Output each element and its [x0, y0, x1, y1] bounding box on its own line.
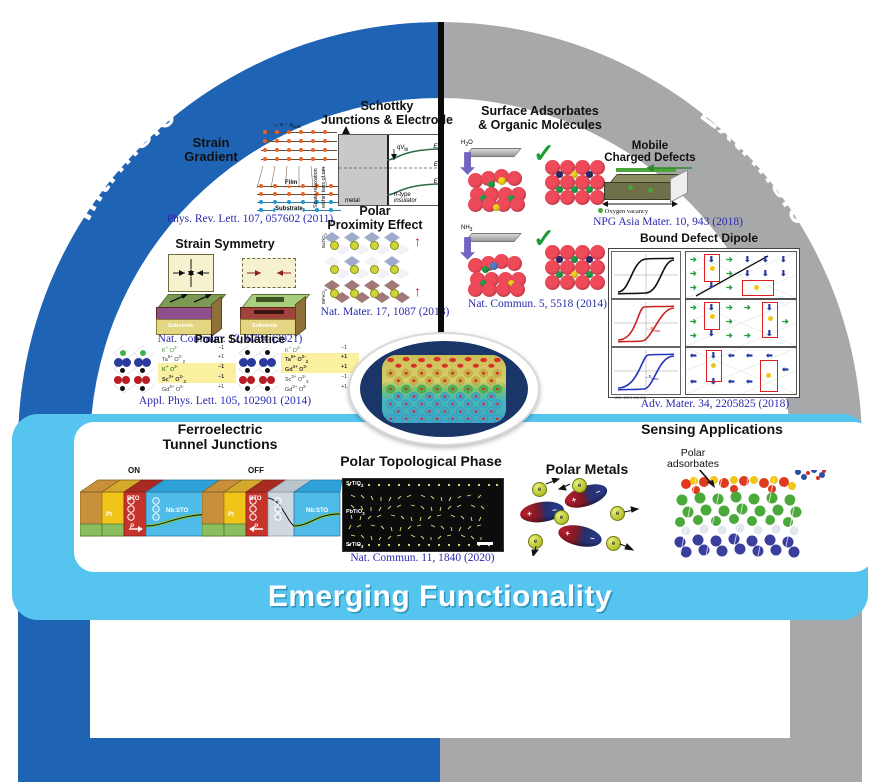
defect-lattice-blue: ⬅ ⬅ ⬇ ⬇ ⬅ ⬅ ⬅ ⬅ ⬅ ⬅	[685, 347, 797, 395]
oxygen-vacancy-dot	[598, 208, 603, 213]
ftj-polarization-off: P	[254, 524, 258, 530]
mobile-defects-sketch	[600, 168, 704, 210]
legend-oxygen-vacancy: Oxygen vacancy	[598, 208, 648, 215]
heading-bound-defect-dipole: Bound Defect Dipole	[604, 232, 794, 245]
strain-symmetry-square	[168, 254, 214, 292]
hysteresis-loop-red: ←Ebias	[611, 299, 681, 347]
schottky-band-diagram: qVbi EC EF EV metal n-typeinsulator	[338, 134, 444, 206]
label-h2o: H2O	[461, 140, 473, 148]
ftj-device-on: --- +++ Pt BTO Nb:STO P	[80, 474, 220, 552]
label-substrate: Substrate	[275, 206, 303, 212]
ftj-layer-nbsto-on: Nb:STO	[166, 508, 188, 514]
ftj-layer-bto-on: BTO	[127, 496, 140, 502]
label-film: Film	[285, 180, 297, 186]
crystal-surface-left-bottom	[468, 248, 530, 296]
citation-mobile-defects: NPG Asia Mater. 10, 943 (2018)	[573, 216, 763, 228]
label-insulator: n-typeinsulator	[394, 192, 417, 204]
heading-strain-gradient: StrainGradient	[170, 136, 252, 164]
strain-symmetry-slab-left: Substrate	[156, 294, 226, 336]
citation-surface-adsorbates: Nat. Commun. 5, 5518 (2014)	[450, 298, 625, 310]
sublabel-polar-adsorbates: Polaradsorbates	[648, 448, 738, 471]
hysteresis-loop-black	[611, 251, 681, 299]
heading-polar-sublattice: Polar Sublattice	[150, 333, 330, 346]
strain-relaxation-note2: within tens of nm	[321, 167, 327, 208]
heading-polar-proximity: PolarProximity Effect	[310, 205, 440, 232]
center-oval-ring	[360, 341, 528, 437]
heading-strain-symmetry: Strain Symmetry	[140, 238, 310, 252]
crystal-surface-left-top	[468, 163, 530, 211]
heading-topological-phase: Polar Topological Phase	[316, 454, 526, 469]
label-metal: metal	[345, 198, 360, 204]
heading-mobile-defects: MobileCharged Defects	[590, 140, 710, 165]
label-nh3: NH3	[461, 225, 472, 233]
legend-text: Oxygen vacancy	[605, 208, 649, 215]
strain-gradient-sketch: ↔ a ~ abulk	[255, 120, 345, 215]
polar-proximity-lattice: ↑ ↑ BaTiO3 BiFeO3	[322, 232, 432, 304]
carrier-arrows	[520, 478, 650, 556]
ftj-layer-pt-on: Pt	[106, 512, 112, 518]
topological-stem-image: SrTiO3 PbTiO3 SrTiO3	[342, 478, 504, 552]
citation-topological-phase: Nat. Commun. 11, 1840 (2020)	[340, 552, 505, 564]
bound-defect-dipole-figure: ←Ebias →Ebias -200 -100 0 100 200 ➔ ➔ ➔	[608, 248, 800, 398]
citation-bound-defect-dipole: Adv. Mater. 34, 2205825 (2018)	[620, 398, 810, 410]
heading-sensing: Sensing Applications	[612, 422, 812, 437]
center-atomic-image	[382, 355, 506, 423]
defect-lattice-black: ➔ ➔ ➔ ⬇ ⬇ ➔ ➔ ➔ ⬇ ⬇ ⬇ ⬇ ⬇ ⬇	[685, 251, 797, 299]
ftj-layer-bto-off: BTO	[249, 496, 262, 502]
ftj-device-off: --- +++ Pt BTO Nb:STO P	[202, 474, 342, 552]
bottom-title: Emerging Functionality	[12, 580, 868, 614]
crystal-surface-right-bottom	[545, 245, 611, 297]
hysteresis-loop-blue: →Ebias -200 -100 0 100 200	[611, 347, 681, 395]
strain-symmetry-rect	[242, 258, 296, 288]
heading-ftj: FerroelectricTunnel Junctions	[120, 422, 320, 452]
ftj-polarization-on: P	[130, 524, 134, 530]
citation-polar-sublattice: Appl. Phys. Lett. 105, 102901 (2014)	[110, 395, 340, 407]
sensing-crystal	[672, 470, 832, 558]
strain-symmetry-slab-right: Substrate	[240, 294, 310, 336]
strain-relaxation-note: Strain relaxation	[313, 168, 319, 208]
heading-polar-metals: Polar Metals	[522, 462, 652, 477]
center-oval	[348, 332, 540, 446]
defect-lattice-red: ➔ ➔ ➔ ⬇ ⬇ ➔ ➔ ➔ ➔ ➔ ⬇ ⬇ ➔	[685, 299, 797, 347]
heading-surface-adsorbates: Surface Adsorbates& Organic Molecules	[450, 105, 630, 132]
figure-canvas: Polar Perturbations Intrinsic Extrinsic …	[0, 0, 880, 634]
ftj-layer-pt-off: Pt	[228, 512, 234, 518]
ftj-layer-nbsto-off: Nb:STO	[306, 508, 328, 514]
polar-metals-sketch: +− +− +− e e e e e e	[520, 478, 650, 556]
